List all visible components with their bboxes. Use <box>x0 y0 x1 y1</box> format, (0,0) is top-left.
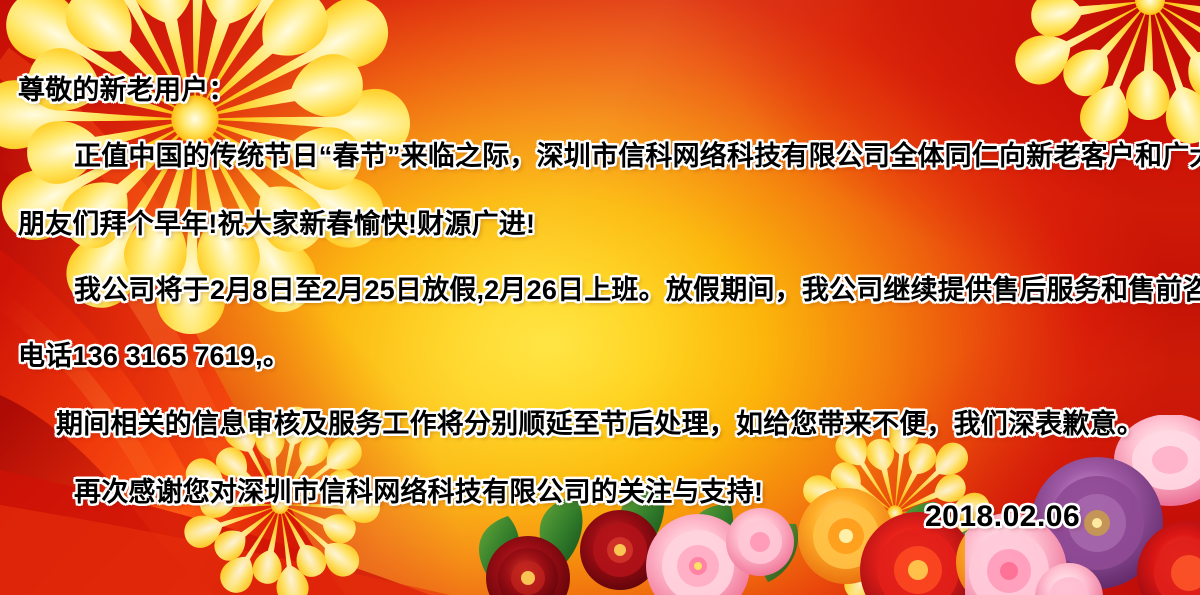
paragraph1-line2: 朋友们拜个早年!祝大家新春愉快!财源广进! <box>18 202 535 241</box>
notice-date: 2018.02.06 <box>925 500 1080 534</box>
salutation-line: 尊敬的新老用户： <box>18 68 236 107</box>
paragraph2-line1: 我公司将于2月8日至2月25日放假,2月26日上班。放假期间，我公司继续提供售后… <box>74 268 1200 307</box>
paragraph4-thanks: 再次感谢您对深圳市信科网络科技有限公司的关注与支持! <box>74 470 763 509</box>
spring-festival-holiday-notice-poster: 尊敬的新老用户： 正值中国的传统节日“春节”来临之际，深圳市信科网络科技有限公司… <box>0 0 1200 595</box>
paragraph3-apology: 期间相关的信息审核及服务工作将分别顺延至节后处理，如给您带来不便，我们深表歉意。 <box>56 402 1144 441</box>
paragraph2-line2-phone: 电话136 3165 7619,。 <box>18 334 290 373</box>
notice-text-block: 尊敬的新老用户： 正值中国的传统节日“春节”来临之际，深圳市信科网络科技有限公司… <box>0 0 1200 595</box>
paragraph1-line1: 正值中国的传统节日“春节”来临之际，深圳市信科网络科技有限公司全体同仁向新老客户… <box>74 134 1200 173</box>
